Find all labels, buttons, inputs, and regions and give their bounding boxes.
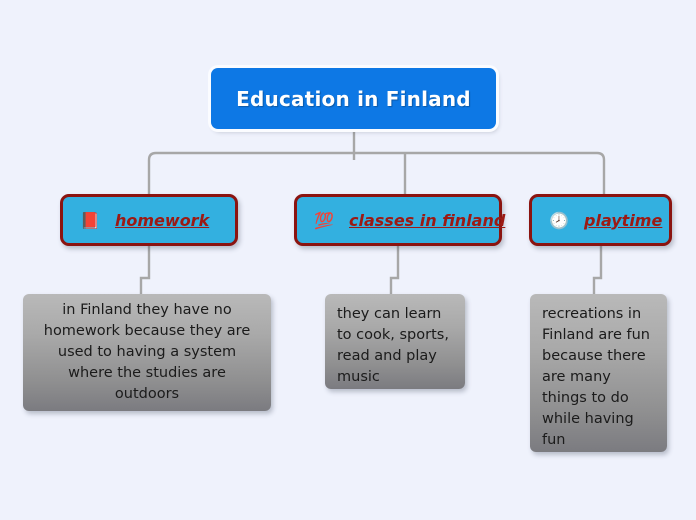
connector-playtime-note (594, 246, 601, 294)
root-node[interactable]: Education in Finland (211, 68, 496, 129)
note-text-homework: in Finland they have no homework because… (35, 300, 259, 405)
connector-bus (149, 153, 604, 194)
note-box-classes[interactable]: they can learn to cook, sports, read and… (325, 294, 465, 389)
topic-node-playtime[interactable]: 🕗 playtime (529, 194, 672, 246)
connector-classes-note (391, 246, 398, 294)
note-box-playtime[interactable]: recreations in Finland are fun because t… (530, 294, 667, 452)
closed-book-icon: 📕 (77, 207, 103, 233)
note-text-playtime: recreations in Finland are fun because t… (542, 304, 655, 451)
mindmap-canvas: Education in Finland 📕 homework 💯 classe… (0, 0, 696, 520)
root-node-label: Education in Finland (236, 87, 471, 111)
connector-homework-note (141, 246, 149, 294)
topic-label-playtime: playtime (584, 211, 662, 230)
topic-label-classes: classes in finland (349, 211, 505, 230)
hundred-points-icon: 💯 (311, 207, 337, 233)
note-text-classes: they can learn to cook, sports, read and… (337, 304, 453, 388)
topic-label-homework: homework (115, 211, 209, 230)
topic-node-classes[interactable]: 💯 classes in finland (294, 194, 502, 246)
note-box-homework[interactable]: in Finland they have no homework because… (23, 294, 271, 411)
topic-node-homework[interactable]: 📕 homework (60, 194, 238, 246)
clock-icon: 🕗 (546, 207, 572, 233)
